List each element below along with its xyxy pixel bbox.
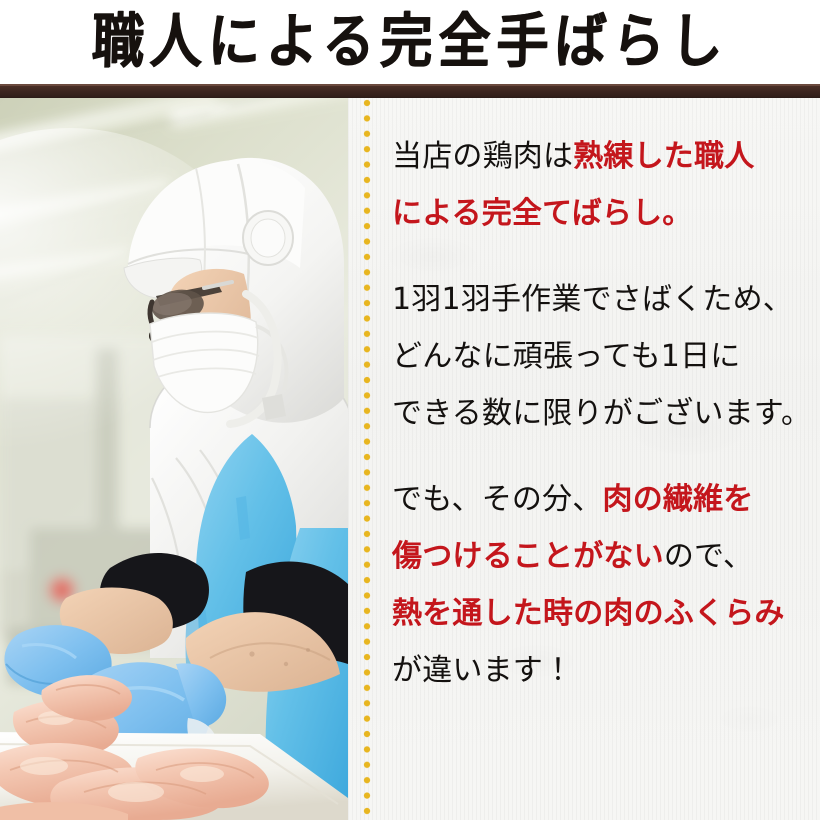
dotted-divider-icon: [362, 98, 372, 820]
paragraph-2-line-3: できる数に限りがございます。: [392, 385, 810, 442]
paragraph-2: 1羽1羽手作業でさばくため、 どんなに頑張っても1日に できる数に限りがございま…: [392, 271, 810, 442]
text-run: どんなに頑張っても1日に: [392, 339, 741, 374]
text-run: が違います！: [392, 653, 573, 688]
text-run-accent: 熱を通した時の肉のふくらみ: [392, 596, 785, 631]
text-run-accent: による完全てばらし。: [392, 196, 693, 231]
paragraph-3-line-2: 傷つけることがないので、: [392, 528, 810, 585]
paragraph-1: 当店の鶏肉は熟練した職人 による完全てばらし。: [392, 128, 810, 242]
text-run: でも、その分、: [392, 482, 603, 517]
text-run: ので、: [664, 539, 753, 574]
text-run-accent: 熟練した職人: [573, 139, 754, 174]
paragraph-2-line-1: 1羽1羽手作業でさばくため、: [392, 271, 810, 328]
paragraph-1-line-1: 当店の鶏肉は熟練した職人: [392, 128, 810, 185]
worker-photo: [0, 98, 348, 820]
copy-panel: 当店の鶏肉は熟練した職人 による完全てばらし。 1羽1羽手作業でさばくため、 ど…: [348, 98, 820, 820]
text-run: 当店の鶏肉は: [392, 139, 573, 174]
page-title: 職人による完全手ばらし: [91, 12, 729, 71]
header-divider-bar: [0, 84, 820, 98]
paragraph-2-line-2: どんなに頑張っても1日に: [392, 328, 810, 385]
text-run: できる数に限りがございます。: [392, 396, 811, 431]
paragraph-3-line-4: が違います！: [392, 642, 810, 699]
paragraph-3-line-3: 熱を通した時の肉のふくらみ: [392, 585, 810, 642]
text-run-accent: 傷つけることがない: [392, 539, 664, 574]
text-run-accent: 肉の繊維を: [603, 482, 754, 517]
text-run: 1羽1羽手作業でさばくため、: [392, 282, 793, 317]
paragraph-1-line-2: による完全てばらし。: [392, 185, 810, 242]
copy-body: 当店の鶏肉は熟練した職人 による完全てばらし。 1羽1羽手作業でさばくため、 ど…: [392, 128, 810, 699]
paragraph-3-line-1: でも、その分、肉の繊維を: [392, 471, 810, 528]
header: 職人による完全手ばらし: [0, 0, 820, 84]
paragraph-3: でも、その分、肉の繊維を 傷つけることがないので、 熱を通した時の肉のふくらみ …: [392, 471, 810, 699]
promo-banner: 職人による完全手ばらし: [0, 0, 820, 820]
